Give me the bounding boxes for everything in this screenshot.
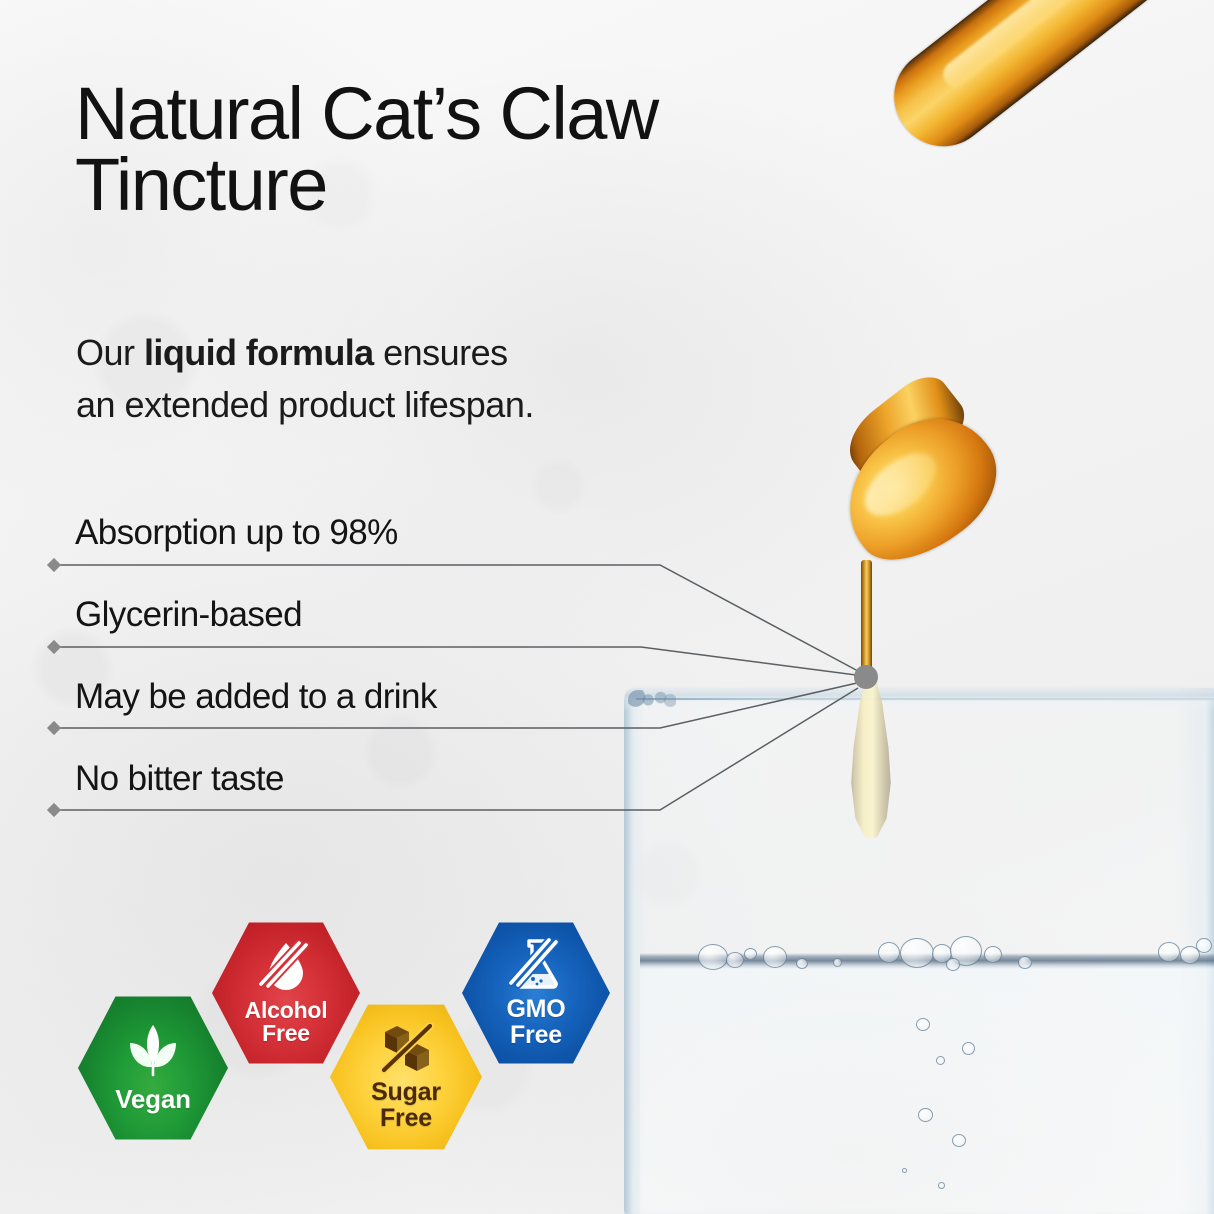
water-body bbox=[640, 966, 1214, 1214]
water-bubble bbox=[938, 1182, 945, 1189]
feature-label-glycerin: Glycerin-based bbox=[75, 595, 302, 635]
diamond-marker-1 bbox=[47, 640, 61, 654]
droplet-slash-icon bbox=[259, 940, 313, 998]
dropper-tube bbox=[875, 0, 1214, 166]
water-bubble bbox=[902, 1168, 907, 1173]
page-subtitle: Our liquid formula ensures an extended p… bbox=[76, 327, 696, 431]
water-bubble bbox=[726, 952, 744, 968]
badge-gmo-label-2: Free bbox=[510, 1023, 562, 1049]
diamond-marker-0 bbox=[47, 558, 61, 572]
subtitle-highlight: liquid formula bbox=[144, 332, 374, 373]
feature-label-drink: May be added to a drink bbox=[75, 677, 437, 717]
water-bubble bbox=[1158, 942, 1180, 962]
water-bubble bbox=[984, 946, 1002, 963]
diamond-marker-2 bbox=[47, 721, 61, 735]
badge-gmo-free: GMO Free bbox=[462, 918, 610, 1068]
subtitle-suffix: ensures bbox=[374, 332, 508, 373]
diamond-markers bbox=[47, 558, 61, 817]
dropper-tip bbox=[821, 393, 1020, 584]
glass-rim-bubbles bbox=[628, 690, 676, 708]
title-line-2: Tincture bbox=[75, 143, 327, 226]
water-bubble bbox=[763, 946, 787, 968]
water-bubble bbox=[833, 958, 842, 967]
water-bubble bbox=[698, 944, 728, 970]
sugar-cubes-slash-icon bbox=[377, 1023, 435, 1081]
water-bubble bbox=[900, 938, 934, 968]
badge-gmo-label-1: GMO bbox=[506, 997, 565, 1023]
badge-sugar-label-2: Free bbox=[380, 1106, 432, 1132]
water-bubble bbox=[744, 948, 757, 960]
diamond-marker-3 bbox=[47, 803, 61, 817]
water-bubble bbox=[946, 958, 960, 971]
badge-vegan-label: Vegan bbox=[115, 1086, 191, 1113]
water-bubble bbox=[878, 942, 900, 963]
badge-alcohol-free: Alcohol Free bbox=[212, 918, 360, 1068]
water-bubble bbox=[796, 958, 808, 969]
subtitle-prefix: Our bbox=[76, 332, 144, 373]
water-bubble bbox=[952, 1134, 966, 1147]
badge-alcohol-label-2: Free bbox=[262, 1022, 310, 1045]
badge-vegan: Vegan bbox=[78, 992, 228, 1144]
flask-slash-icon bbox=[509, 938, 563, 998]
leaf-icon bbox=[122, 1023, 184, 1086]
tincture-stream bbox=[861, 560, 872, 688]
water-bubble bbox=[936, 1056, 945, 1065]
infographic-canvas: Natural Cat’s Claw Tincture Our liquid f… bbox=[0, 0, 1214, 1214]
leader-line-1 bbox=[60, 647, 856, 675]
badge-sugar-free: Sugar Free bbox=[330, 1000, 482, 1154]
badge-alcohol-label-1: Alcohol bbox=[245, 999, 328, 1022]
feature-label-taste: No bitter taste bbox=[75, 759, 284, 799]
glass-rim-highlight bbox=[636, 698, 1214, 700]
badge-sugar-label-1: Sugar bbox=[371, 1080, 441, 1106]
feature-label-absorption: Absorption up to 98% bbox=[75, 513, 398, 553]
page-title: Natural Cat’s Claw Tincture bbox=[75, 78, 905, 220]
water-bubble bbox=[1018, 956, 1032, 969]
glass-left-wall bbox=[624, 700, 640, 1214]
water-bubble bbox=[1196, 938, 1212, 953]
subtitle-line-2: an extended product lifespan. bbox=[76, 384, 534, 425]
water-bubble bbox=[918, 1108, 933, 1122]
water-bubble bbox=[916, 1018, 930, 1031]
water-bubble bbox=[962, 1042, 975, 1055]
